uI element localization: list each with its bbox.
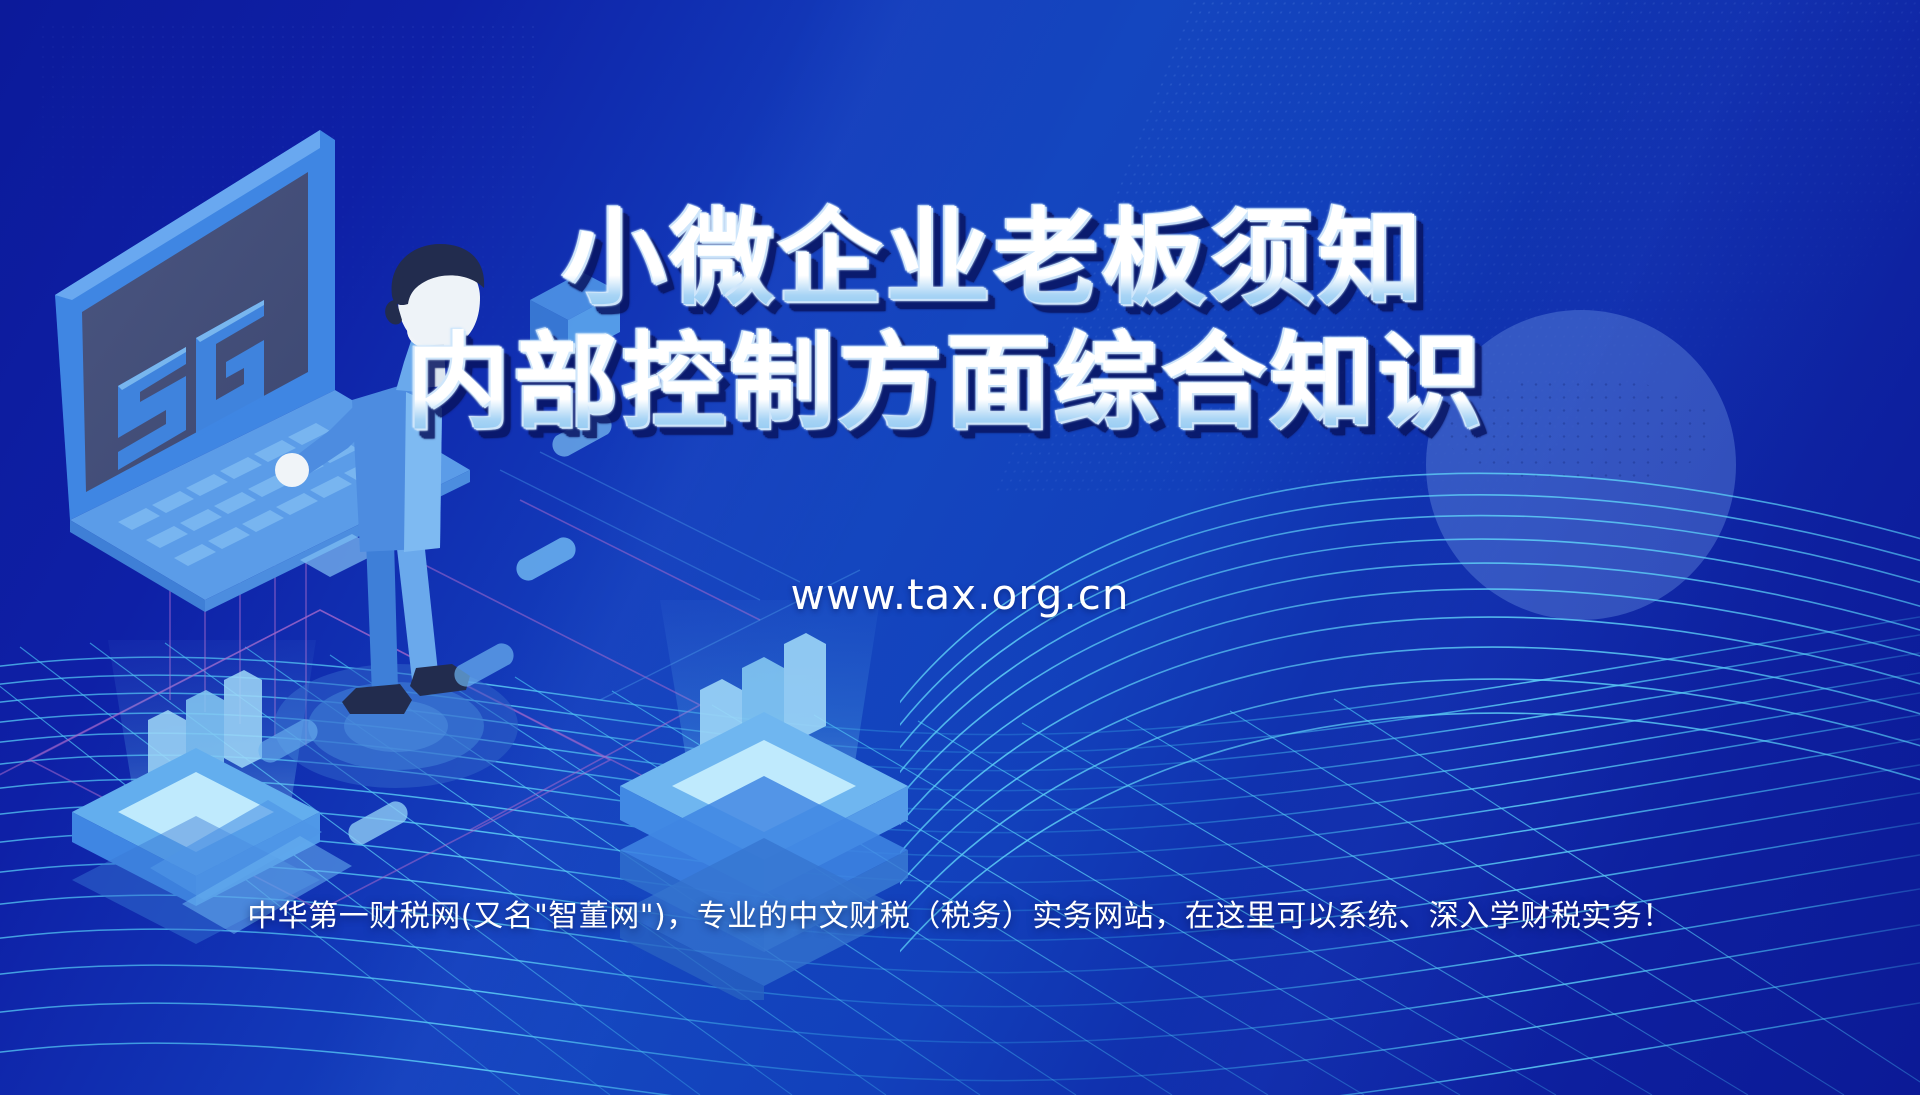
- data-platform-right: [620, 600, 908, 1000]
- hero-illustration: [0, 0, 920, 1000]
- footer-tagline: 中华第一财税网(又名"智董网")，专业的中文财税（税务）实务网站，在这里可以系统…: [0, 891, 1920, 935]
- website-url[interactable]: www.tax.org.cn: [0, 570, 1920, 619]
- banner-canvas: 小微企业老板须知 内部控制方面综合知识 www.tax.org.cn 中华第一财…: [0, 0, 1920, 1095]
